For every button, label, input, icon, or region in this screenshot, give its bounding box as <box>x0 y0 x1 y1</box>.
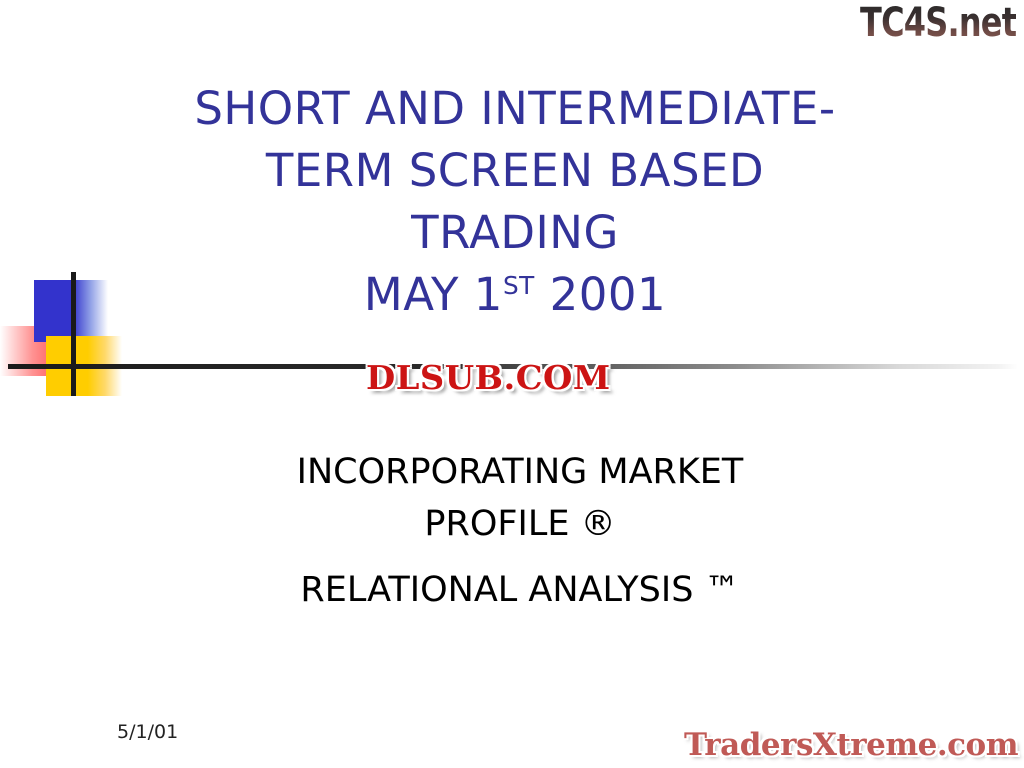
footer-date: 5/1/01 <box>117 720 178 744</box>
title-date-year: 2001 <box>535 268 666 321</box>
vertical-rule <box>71 272 76 396</box>
body-line-1: INCORPORATING MARKET <box>160 446 880 498</box>
slide-title: SHORT AND INTERMEDIATE- TERM SCREEN BASE… <box>120 78 910 326</box>
slide-body-text: INCORPORATING MARKET PROFILE ® RELATIONA… <box>160 446 880 616</box>
title-date-ordinal-suffix: ST <box>503 271 535 300</box>
body-line-3: RELATIONAL ANALYSIS ™ <box>160 564 880 616</box>
title-date-line: MAY 1ST 2001 <box>120 264 910 326</box>
title-line-3: TRADING <box>120 202 910 264</box>
title-line-2: TERM SCREEN BASED <box>120 140 910 202</box>
dlsub-com-logo: DLSUB.COM <box>366 358 611 398</box>
body-line-2: PROFILE ® <box>160 498 880 550</box>
title-line-1: SHORT AND INTERMEDIATE- <box>120 78 910 140</box>
presentation-slide: TC4S.net SHORT AND INTERMEDIATE- TERM SC… <box>0 0 1024 768</box>
title-date-prefix: MAY 1 <box>364 268 503 321</box>
tradersxtreme-com-watermark: TradersXtreme.com <box>684 726 1018 764</box>
tc4s-net-logo: TC4S.net <box>860 2 1016 44</box>
